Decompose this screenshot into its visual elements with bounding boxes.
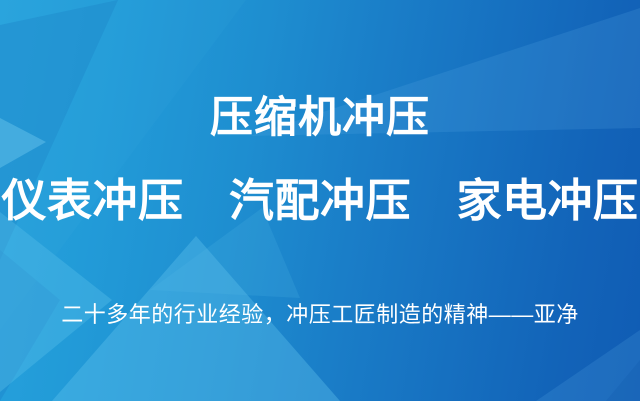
banner-tagline: 二十多年的行业经验，冲压工匠制造的精神——亚净: [0, 304, 640, 326]
promo-banner: 压缩机冲压 仪表冲压 汽配冲压 家电冲压 二十多年的行业经验，冲压工匠制造的精神…: [0, 0, 640, 401]
banner-title: 压缩机冲压: [0, 97, 640, 140]
banner-subtitle: 仪表冲压 汽配冲压 家电冲压: [0, 178, 640, 223]
banner-text-layer: 压缩机冲压 仪表冲压 汽配冲压 家电冲压 二十多年的行业经验，冲压工匠制造的精神…: [0, 0, 640, 401]
